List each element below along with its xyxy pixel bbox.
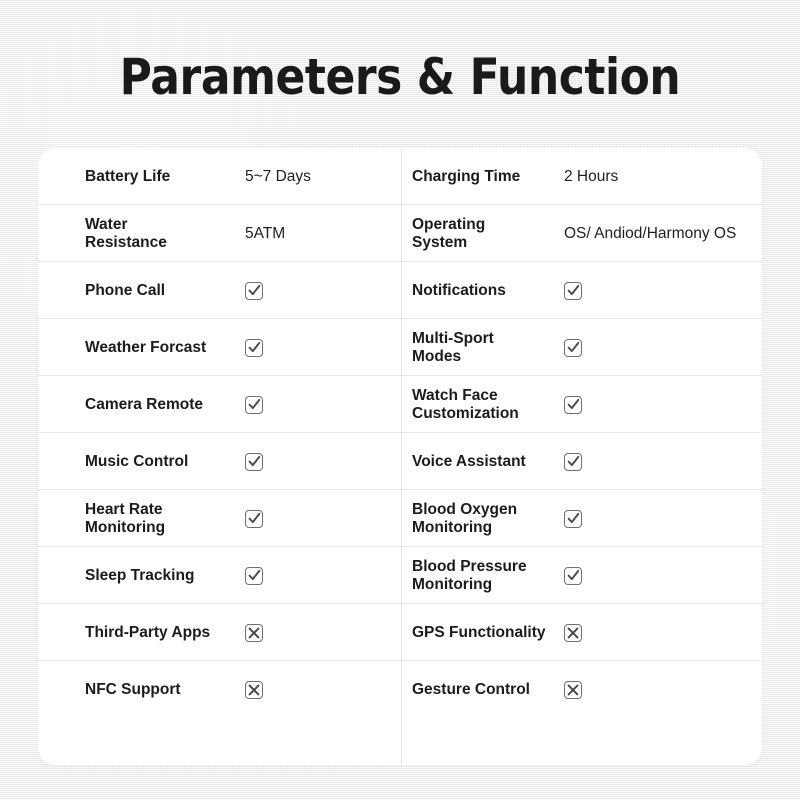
page-title: Parameters & Function [48, 48, 752, 106]
spec-cell-left: Sleep Tracking [38, 547, 401, 604]
checkbox-checked-icon[interactable] [564, 510, 582, 528]
spec-label: GPS Functionality [412, 624, 564, 642]
spec-row: Sleep TrackingBlood Pressure Monitoring [38, 547, 762, 604]
spec-label: Weather Forcast [85, 339, 245, 357]
spec-label: Charging Time [412, 168, 564, 186]
spec-cell-left: Phone Call [38, 262, 401, 319]
spec-row: NFC SupportGesture Control [38, 661, 762, 718]
checkbox-checked-icon[interactable] [245, 339, 263, 357]
spec-row: Battery Life5~7 DaysCharging Time2 Hours [38, 148, 762, 205]
checkbox-checked-icon[interactable] [564, 567, 582, 585]
spec-label: Gesture Control [412, 681, 564, 699]
spec-cell-right: GPS Functionality [401, 604, 762, 661]
spec-label: Watch Face Customization [412, 387, 564, 423]
checkbox-crossed-icon[interactable] [245, 681, 263, 699]
spec-cell-left: Music Control [38, 433, 401, 490]
spec-cell-right: Multi-Sport Modes [401, 319, 762, 376]
checkbox-checked-icon[interactable] [564, 453, 582, 471]
spec-label: Sleep Tracking [85, 567, 245, 585]
spec-label: Camera Remote [85, 396, 245, 414]
spec-cell-left: Water Resistance5ATM [38, 205, 401, 262]
spec-row: Water Resistance5ATMOperating SystemOS/ … [38, 205, 762, 262]
spec-label: Heart Rate Monitoring [85, 501, 245, 537]
spec-cell-right: Blood Pressure Monitoring [401, 547, 762, 604]
spec-value: 2 Hours [564, 168, 618, 186]
spec-cell-left: Weather Forcast [38, 319, 401, 376]
spec-row: Heart Rate MonitoringBlood Oxygen Monito… [38, 490, 762, 547]
parameters-and-function-page: Parameters & Function Battery Life5~7 Da… [0, 0, 800, 800]
spec-cell-right: Watch Face Customization [401, 376, 762, 433]
checkbox-checked-icon[interactable] [564, 339, 582, 357]
spec-row: Third-Party AppsGPS Functionality [38, 604, 762, 661]
checkbox-checked-icon[interactable] [245, 453, 263, 471]
spec-cell-right: Gesture Control [401, 661, 762, 718]
spec-cell-left: NFC Support [38, 661, 401, 718]
checkbox-checked-icon[interactable] [245, 396, 263, 414]
checkbox-checked-icon[interactable] [564, 282, 582, 300]
specifications-table: Battery Life5~7 DaysCharging Time2 Hours… [38, 148, 762, 718]
spec-label: Multi-Sport Modes [412, 330, 564, 366]
spec-row: Phone CallNotifications [38, 262, 762, 319]
specifications-card: Battery Life5~7 DaysCharging Time2 Hours… [38, 148, 762, 765]
spec-label: Phone Call [85, 282, 245, 300]
checkbox-checked-icon[interactable] [245, 282, 263, 300]
spec-row: Music ControlVoice Assistant [38, 433, 762, 490]
spec-label: NFC Support [85, 681, 245, 699]
spec-label: Blood Oxygen Monitoring [412, 501, 564, 537]
spec-label: Notifications [412, 282, 564, 300]
spec-label: Music Control [85, 453, 245, 471]
spec-label: Voice Assistant [412, 453, 564, 471]
spec-cell-right: Notifications [401, 262, 762, 319]
spec-label: Third-Party Apps [85, 624, 245, 642]
checkbox-crossed-icon[interactable] [564, 681, 582, 699]
spec-label: Operating System [412, 216, 564, 252]
checkbox-checked-icon[interactable] [245, 567, 263, 585]
spec-cell-left: Camera Remote [38, 376, 401, 433]
spec-cell-left: Third-Party Apps [38, 604, 401, 661]
spec-row: Camera RemoteWatch Face Customization [38, 376, 762, 433]
checkbox-checked-icon[interactable] [564, 396, 582, 414]
spec-cell-left: Heart Rate Monitoring [38, 490, 401, 547]
spec-cell-right: Operating SystemOS/ Andiod/Harmony OS [401, 205, 762, 262]
checkbox-crossed-icon[interactable] [564, 624, 582, 642]
spec-cell-right: Charging Time2 Hours [401, 148, 762, 205]
spec-value: 5ATM [245, 225, 285, 243]
spec-label: Battery Life [85, 168, 245, 186]
checkbox-crossed-icon[interactable] [245, 624, 263, 642]
spec-cell-right: Blood Oxygen Monitoring [401, 490, 762, 547]
spec-value: OS/ Andiod/Harmony OS [564, 225, 736, 243]
spec-label: Water Resistance [85, 216, 245, 252]
spec-row: Weather ForcastMulti-Sport Modes [38, 319, 762, 376]
spec-value: 5~7 Days [245, 168, 311, 186]
spec-cell-right: Voice Assistant [401, 433, 762, 490]
checkbox-checked-icon[interactable] [245, 510, 263, 528]
spec-label: Blood Pressure Monitoring [412, 558, 564, 594]
spec-cell-left: Battery Life5~7 Days [38, 148, 401, 205]
